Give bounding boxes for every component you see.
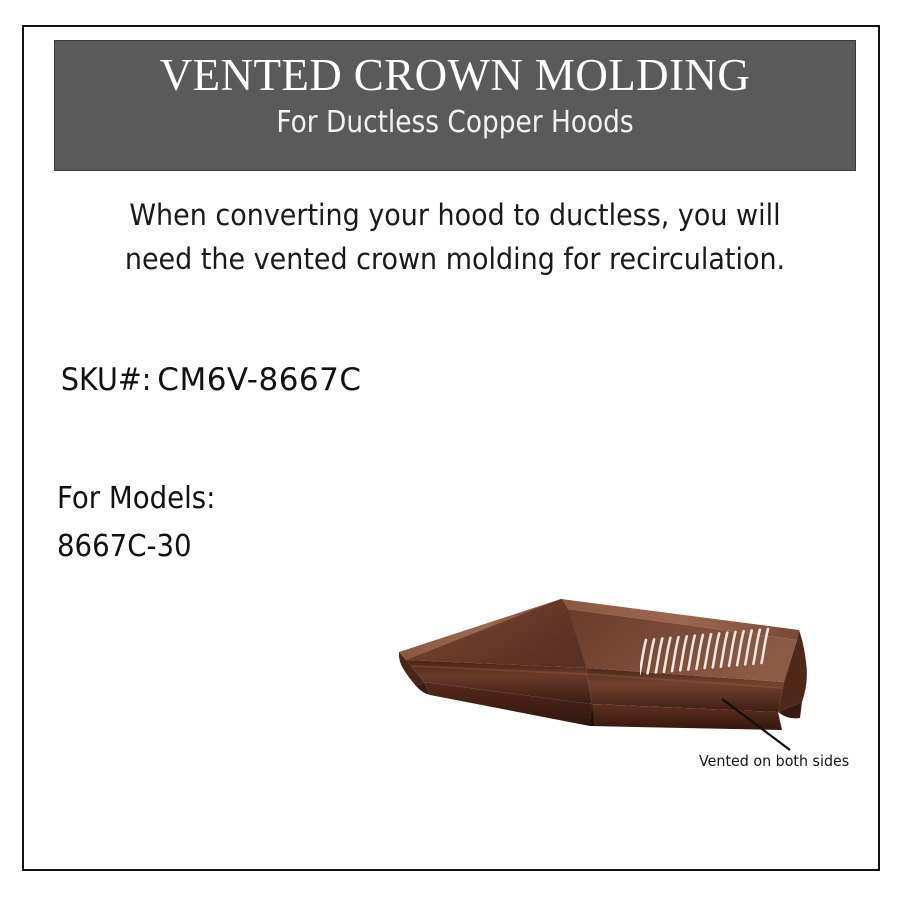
model-number: 8667C-30 xyxy=(57,523,215,571)
page-subtitle: For Ductless Copper Hoods xyxy=(276,103,633,143)
models-block: For Models: 8667C-30 xyxy=(57,475,229,571)
models-label: For Models: xyxy=(57,475,215,523)
spec-sheet: VENTED CROWN MOLDING For Ductless Copper… xyxy=(0,0,900,900)
intro-line-1: When converting your hood to ductless, y… xyxy=(82,193,828,237)
intro-line-2: need the vented crown molding for recirc… xyxy=(82,237,828,281)
molding-top-face-left xyxy=(406,599,586,668)
sku-value: CM6V-8667C xyxy=(157,362,361,398)
sku-label: SKU#: xyxy=(61,362,151,398)
header-banner: VENTED CROWN MOLDING For Ductless Copper… xyxy=(54,40,856,171)
page-border: VENTED CROWN MOLDING For Ductless Copper… xyxy=(22,25,880,871)
intro-paragraph: When converting your hood to ductless, y… xyxy=(54,193,856,281)
sku-row: SKU#: CM6V-8667C xyxy=(57,362,362,398)
product-figure: Vented on both sides xyxy=(354,562,884,792)
vent-callout-label: Vented on both sides xyxy=(699,752,849,770)
page-title: VENTED CROWN MOLDING xyxy=(160,47,750,103)
